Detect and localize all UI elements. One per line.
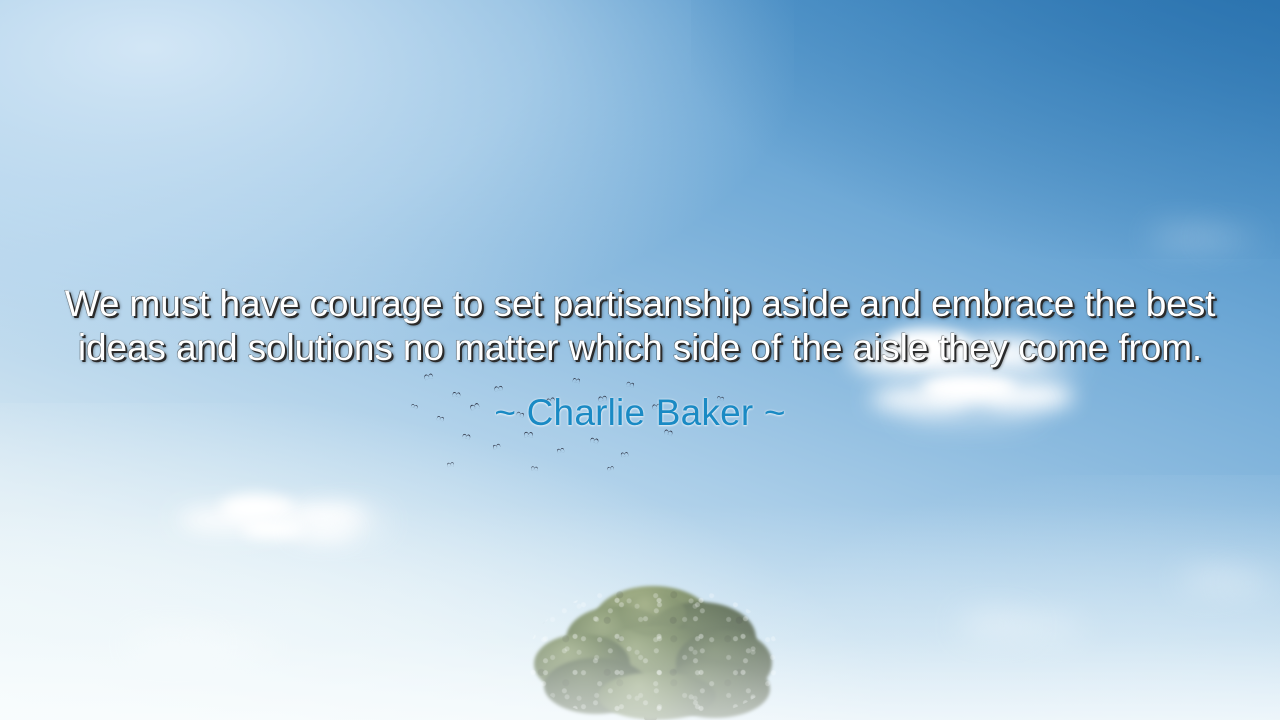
quote-image-canvas: We must have courage to set partisanship… xyxy=(0,0,1280,720)
quote-text: We must have courage to set partisanship… xyxy=(48,282,1232,370)
sky-deep-top-right xyxy=(691,0,1280,259)
quote-block: We must have courage to set partisanship… xyxy=(48,282,1232,435)
quote-attribution: ~ Charlie Baker ~ xyxy=(48,391,1232,435)
horizon-haze xyxy=(0,504,1280,720)
